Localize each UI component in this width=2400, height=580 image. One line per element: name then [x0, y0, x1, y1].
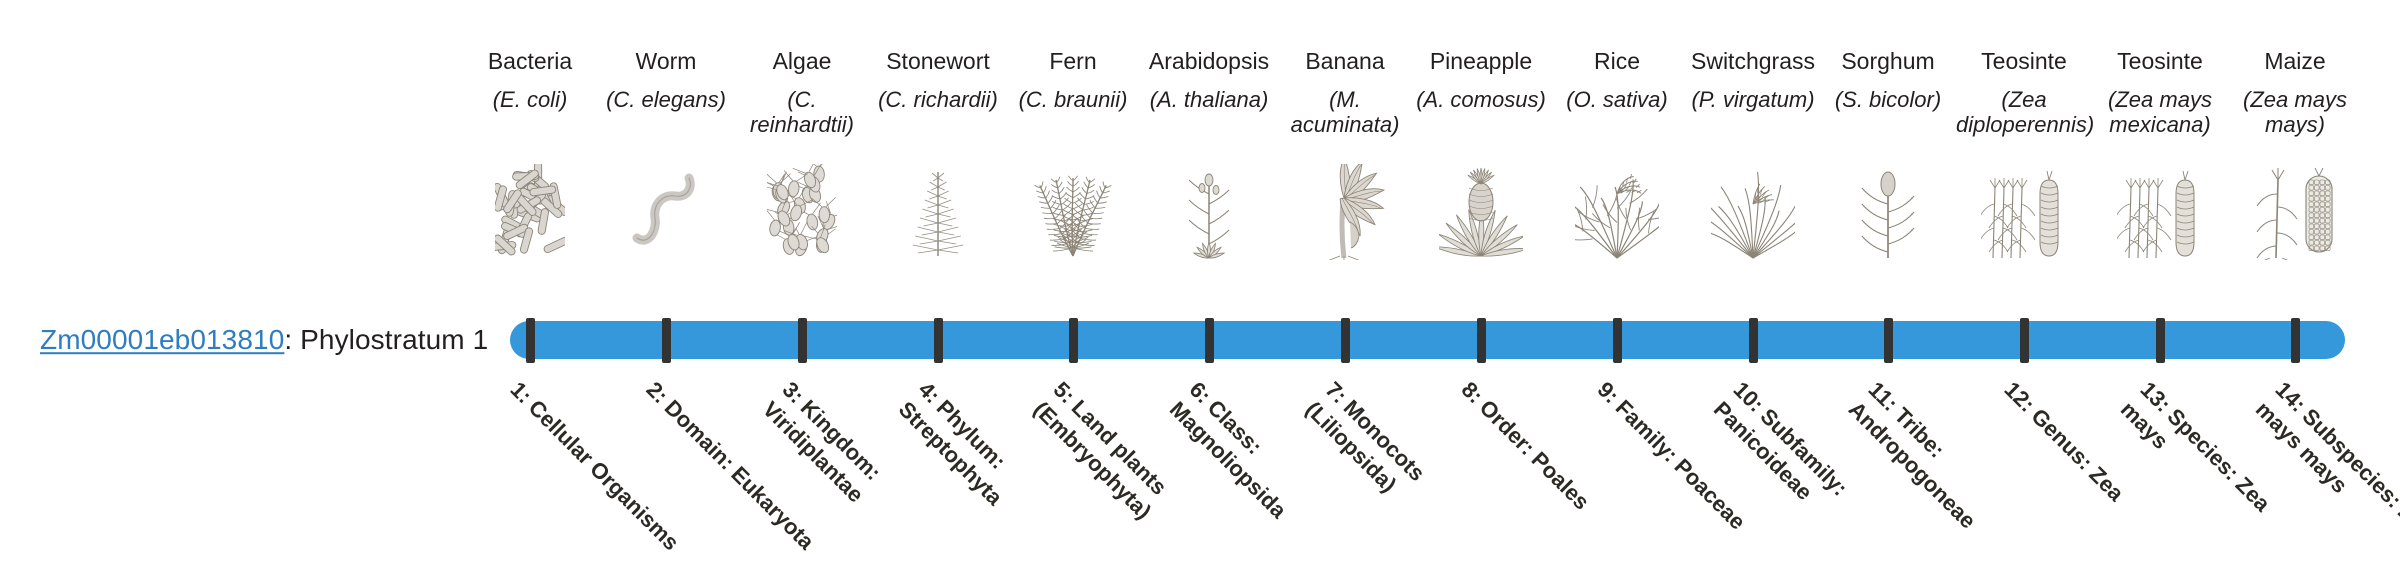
species-column: Bacteria(E. coli) [462, 48, 598, 113]
species-column: Arabidopsis(A. thaliana) [1141, 48, 1277, 113]
phylostratum-tick[interactable] [662, 318, 671, 363]
species-common-name: Pineapple [1413, 48, 1549, 74]
phylostratum-bar[interactable] [510, 321, 2345, 359]
species-scientific-name: (A. thaliana) [1141, 88, 1277, 113]
species-column: Teosinte(Zea mays mexicana) [2092, 48, 2228, 138]
species-scientific-name: (O. sativa) [1549, 88, 1685, 113]
species-scientific-name: (Zea mays mexicana) [2092, 88, 2228, 137]
species-column: Switchgrass(P. virgatum) [1685, 48, 1821, 113]
phylostratum-tick[interactable] [934, 318, 943, 363]
species-scientific-name: (Zea mays mays) [2227, 88, 2363, 137]
bacteria-rods-icon [455, 160, 605, 260]
species-common-name: Teosinte [2092, 48, 2228, 74]
species-scientific-name: (P. virgatum) [1685, 88, 1821, 113]
species-common-name: Rice [1549, 48, 1685, 74]
rice-plant-icon [1542, 160, 1692, 260]
species-column: Maize(Zea mays mays) [2227, 48, 2363, 138]
phylostratum-tick[interactable] [1884, 318, 1893, 363]
species-scientific-name: (M. acuminata) [1277, 88, 1413, 137]
gene-phylostratum-text: : Phylostratum 1 [284, 324, 488, 355]
species-column: Worm(C. elegans) [598, 48, 734, 113]
gene-phylostratum-label: Zm00001eb013810: Phylostratum 1 [40, 323, 488, 357]
species-scientific-name: (C. braunii) [1005, 88, 1141, 113]
species-scientific-name: (C. elegans) [598, 88, 734, 113]
species-common-name: Switchgrass [1685, 48, 1821, 74]
species-column: Banana(M. acuminata) [1277, 48, 1413, 138]
species-common-name: Maize [2227, 48, 2363, 74]
species-column: Sorghum(S. bicolor) [1820, 48, 1956, 113]
species-common-name: Sorghum [1820, 48, 1956, 74]
sorghum-plant-icon [1813, 160, 1963, 260]
species-column: Teosinte(Zea diploperennis) [1956, 48, 2092, 138]
species-column: Stonewort(C. richardii) [870, 48, 1006, 113]
stonewort-alga-icon [863, 160, 1013, 260]
gene-id-link[interactable]: Zm00001eb013810 [40, 324, 284, 355]
arabidopsis-plant-icon [1134, 160, 1284, 260]
teosinte-plant-ear-icon [1949, 160, 2099, 260]
species-common-name: Teosinte [1956, 48, 2092, 74]
banana-palm-icon [1270, 160, 1420, 260]
species-scientific-name: (A. comosus) [1413, 88, 1549, 113]
phylostratum-tick[interactable] [1613, 318, 1622, 363]
switchgrass-clump-icon [1678, 160, 1828, 260]
phylostratum-tick[interactable] [1749, 318, 1758, 363]
species-column: Pineapple(A. comosus) [1413, 48, 1549, 113]
fern-frond-icon [998, 160, 1148, 260]
phylostratum-tick[interactable] [1477, 318, 1486, 363]
species-scientific-name: (E. coli) [462, 88, 598, 113]
phylostratum-tick[interactable] [1205, 318, 1214, 363]
species-common-name: Algae [734, 48, 870, 74]
phylostratum-tick[interactable] [1341, 318, 1350, 363]
species-column: Algae(C. reinhardtii) [734, 48, 870, 138]
nematode-worm-icon [591, 160, 741, 260]
species-header-track: Bacteria(E. coli)Worm(C. elegans)Algae(C… [0, 0, 2400, 320]
species-scientific-name: (S. bicolor) [1820, 88, 1956, 113]
phylostratum-tick[interactable] [2020, 318, 2029, 363]
phylostratum-tick[interactable] [526, 318, 535, 363]
species-common-name: Bacteria [462, 48, 598, 74]
species-common-name: Arabidopsis [1141, 48, 1277, 74]
species-common-name: Fern [1005, 48, 1141, 74]
pineapple-plant-icon [1406, 160, 1556, 260]
maize-plant-cob-icon [2220, 160, 2370, 260]
species-scientific-name: (C. richardii) [870, 88, 1006, 113]
green-algae-cells-icon [727, 160, 877, 260]
species-scientific-name: (C. reinhardtii) [734, 88, 870, 137]
species-common-name: Stonewort [870, 48, 1006, 74]
species-scientific-name: (Zea diploperennis) [1956, 88, 2092, 137]
phylostratum-tick[interactable] [1069, 318, 1078, 363]
phylostratigraphy-figure: Zm00001eb013810: Phylostratum 1 Bacteria… [0, 0, 2400, 580]
phylostratum-tick[interactable] [2156, 318, 2165, 363]
species-common-name: Worm [598, 48, 734, 74]
phylostratum-tick[interactable] [2291, 318, 2300, 363]
species-common-name: Banana [1277, 48, 1413, 74]
teosinte-plant-ear-icon [2085, 160, 2235, 260]
species-column: Fern(C. braunii) [1005, 48, 1141, 113]
species-column: Rice(O. sativa) [1549, 48, 1685, 113]
phylostratum-tick[interactable] [798, 318, 807, 363]
